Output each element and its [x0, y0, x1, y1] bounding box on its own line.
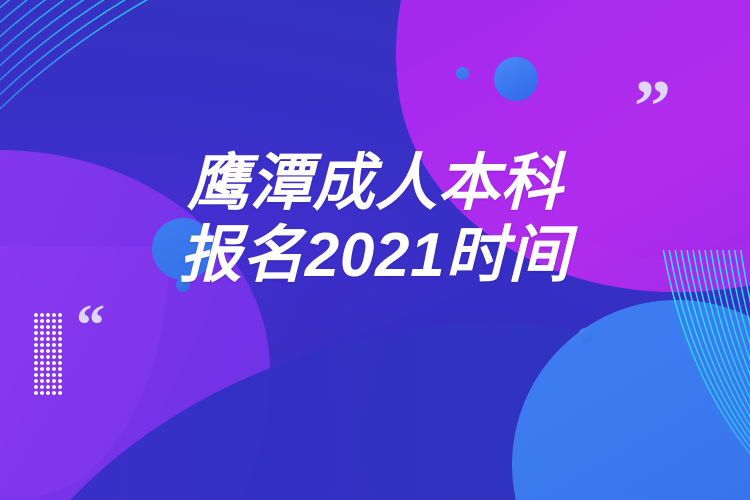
small-blue-circle: [456, 67, 469, 80]
large-blue-circle: [494, 57, 538, 101]
dot-grid-pattern-icon: [33, 312, 62, 397]
opening-quote-icon: “: [76, 296, 104, 354]
blue-dot-right: [578, 328, 593, 343]
banner-title: 鹰潭成人本科 报名2021时间: [0, 148, 750, 292]
banner-title-line-1: 鹰潭成人本科: [0, 148, 750, 220]
banner-title-line-2: 报名2021时间: [0, 220, 750, 292]
banner-image: ” “ 鹰潭成人本科 报名2021时间: [0, 0, 750, 500]
closing-quote-icon: ”: [634, 70, 670, 144]
